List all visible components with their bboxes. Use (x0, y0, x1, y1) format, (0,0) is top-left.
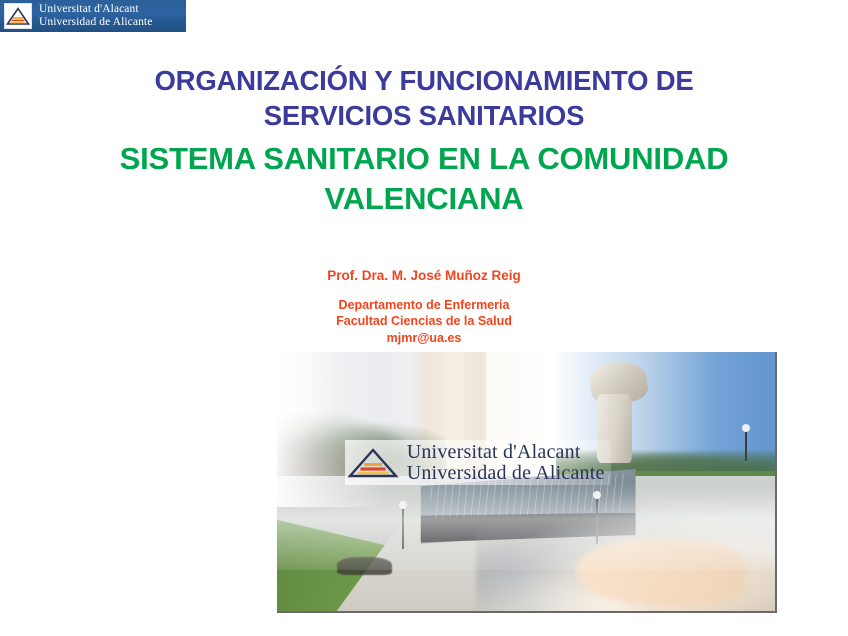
header-wordmark: Universitat d'Alacant Universidad de Ali… (39, 3, 152, 29)
campus-photo-collage: Universitat d'Alacant Universidad de Ali… (277, 352, 777, 613)
header-wordmark-line2: Universidad de Alicante (39, 16, 152, 29)
author-name: Prof. Dra. M. José Muñoz Reig (0, 268, 848, 284)
photo-logo-wordmark: Universitat d'Alacant Universidad de Ali… (407, 442, 605, 483)
photo-logo-line2: Universidad de Alicante (407, 463, 605, 483)
author-faculty: Facultad Ciencias de la Salud (0, 313, 848, 329)
university-header-banner: Universitat d'Alacant Universidad de Ali… (0, 0, 186, 32)
photo-logo-line1: Universitat d'Alacant (407, 442, 605, 462)
ua-mountain-logo-icon (4, 3, 32, 29)
author-email: mjmr@ua.es (0, 330, 848, 346)
header-wordmark-line1: Universitat d'Alacant (39, 3, 152, 16)
page-title: ORGANIZACIÓN Y FUNCIONAMIENTO DE SERVICI… (0, 64, 848, 133)
author-department: Departamento de Enfermeria (0, 297, 848, 313)
page-subtitle: SISTEMA SANITARIO EN LA COMUNIDAD VALENC… (0, 139, 848, 218)
photo-university-logo: Universitat d'Alacant Universidad de Ali… (345, 440, 611, 485)
author-affiliation: Departamento de Enfermeria Facultad Cien… (0, 297, 848, 346)
photo-stage: Universitat d'Alacant Universidad de Ali… (277, 352, 775, 611)
author-block: Prof. Dra. M. José Muñoz Reig Departamen… (0, 268, 848, 346)
ua-mountain-logo-icon (347, 445, 399, 481)
street-lamp (745, 430, 747, 461)
slide-title-block: ORGANIZACIÓN Y FUNCIONAMIENTO DE SERVICI… (0, 64, 848, 219)
